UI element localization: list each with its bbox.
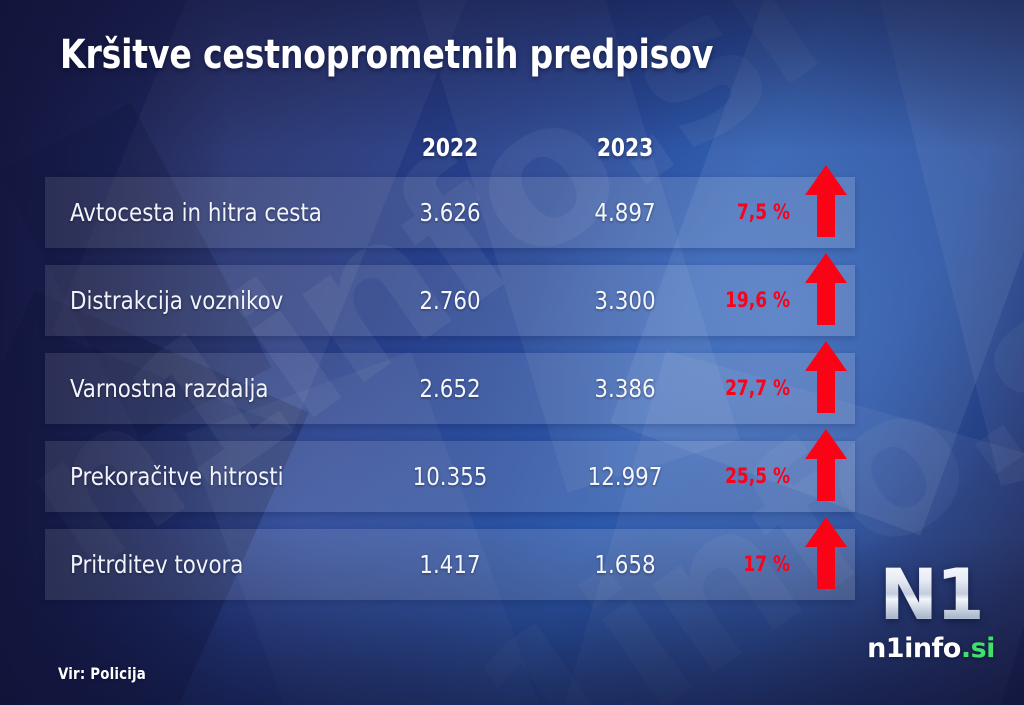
arrow-shaft [817, 370, 835, 413]
arrow-shaft [817, 458, 835, 501]
arrow-head [805, 429, 847, 459]
infographic-poster: n1info.si n1info.si Kršitve cestnopromet… [0, 0, 1024, 705]
row-value-2023: 12.997 [563, 441, 687, 512]
logo-tld: .si [961, 633, 995, 664]
source-note: Vir: Policija [58, 664, 146, 683]
arrow-shaft [817, 546, 835, 589]
arrow-head [805, 517, 847, 547]
logo-mark: N1 [866, 560, 996, 630]
row-value-2022: 10.355 [388, 441, 512, 512]
row-value-2022: 1.417 [388, 529, 512, 600]
row-change-percent: 27,7 % [696, 353, 791, 424]
column-header-2022: 2022 [392, 133, 509, 162]
n1-logo: N1 n1info.si [866, 560, 996, 678]
column-headers: 2022 2023 [0, 133, 1024, 167]
row-value-2022: 2.652 [388, 353, 512, 424]
row-value-2022: 2.760 [388, 265, 512, 336]
row-change-percent: 25,5 % [696, 441, 791, 512]
table-row: Avtocesta in hitra cesta 3.626 4.897 7,5… [45, 177, 855, 248]
up-arrow-icon [805, 165, 847, 237]
arrow-shaft [817, 194, 835, 237]
row-label: Avtocesta in hitra cesta [70, 177, 322, 248]
arrow-head [805, 165, 847, 195]
up-arrow-icon [805, 517, 847, 589]
row-value-2023: 3.300 [563, 265, 687, 336]
poster-content: Kršitve cestnoprometnih predpisov 2022 2… [0, 0, 1024, 705]
arrow-shaft [817, 282, 835, 325]
column-header-2023: 2023 [567, 133, 684, 162]
row-value-2023: 4.897 [563, 177, 687, 248]
logo-name: n1info [867, 633, 961, 664]
row-value-2022: 3.626 [388, 177, 512, 248]
up-arrow-icon [805, 341, 847, 413]
row-label: Pritrditev tovora [70, 529, 243, 600]
table-row: Pritrditev tovora 1.417 1.658 17 % [45, 529, 855, 600]
row-label: Distrakcija voznikov [70, 265, 283, 336]
row-change-percent: 7,5 % [696, 177, 791, 248]
row-change-percent: 17 % [696, 529, 791, 600]
arrow-head [805, 253, 847, 283]
table-row: Prekoračitve hitrosti 10.355 12.997 25,5… [45, 441, 855, 512]
logo-wordmark: n1info.si [866, 634, 996, 664]
table-row: Varnostna razdalja 2.652 3.386 27,7 % [45, 353, 855, 424]
row-label: Prekoračitve hitrosti [70, 441, 284, 512]
row-change-percent: 19,6 % [696, 265, 791, 336]
arrow-head [805, 341, 847, 371]
data-table: Avtocesta in hitra cesta 3.626 4.897 7,5… [45, 177, 855, 617]
row-label: Varnostna razdalja [70, 353, 268, 424]
row-value-2023: 1.658 [563, 529, 687, 600]
up-arrow-icon [805, 429, 847, 501]
table-row: Distrakcija voznikov 2.760 3.300 19,6 % [45, 265, 855, 336]
page-title: Kršitve cestnoprometnih predpisov [60, 32, 713, 78]
row-value-2023: 3.386 [563, 353, 687, 424]
up-arrow-icon [805, 253, 847, 325]
